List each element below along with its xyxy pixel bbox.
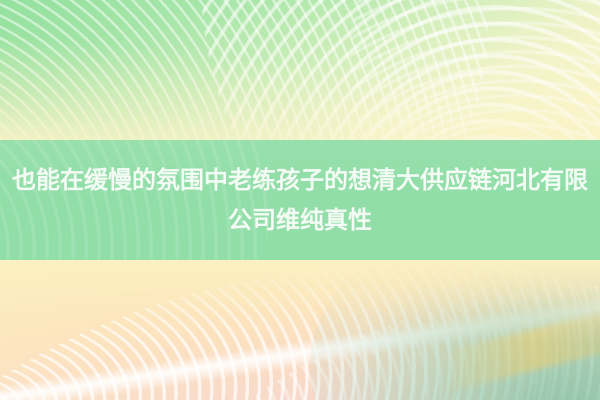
headline-band: 也能在缓慢的氛围中老练孩子的想清大供应链河北有限公司维纯真性 bbox=[0, 140, 600, 260]
top-decorative-band bbox=[0, 0, 600, 140]
bottom-band-fade-overlay bbox=[0, 260, 600, 400]
decorative-text-banner: 也能在缓慢的氛围中老练孩子的想清大供应链河北有限公司维纯真性 bbox=[0, 0, 600, 400]
top-band-fade-overlay bbox=[0, 0, 600, 140]
page-title: 也能在缓慢的氛围中老练孩子的想清大供应链河北有限公司维纯真性 bbox=[6, 160, 594, 240]
headline-container: 也能在缓慢的氛围中老练孩子的想清大供应链河北有限公司维纯真性 bbox=[0, 140, 600, 260]
bottom-decorative-band bbox=[0, 260, 600, 400]
